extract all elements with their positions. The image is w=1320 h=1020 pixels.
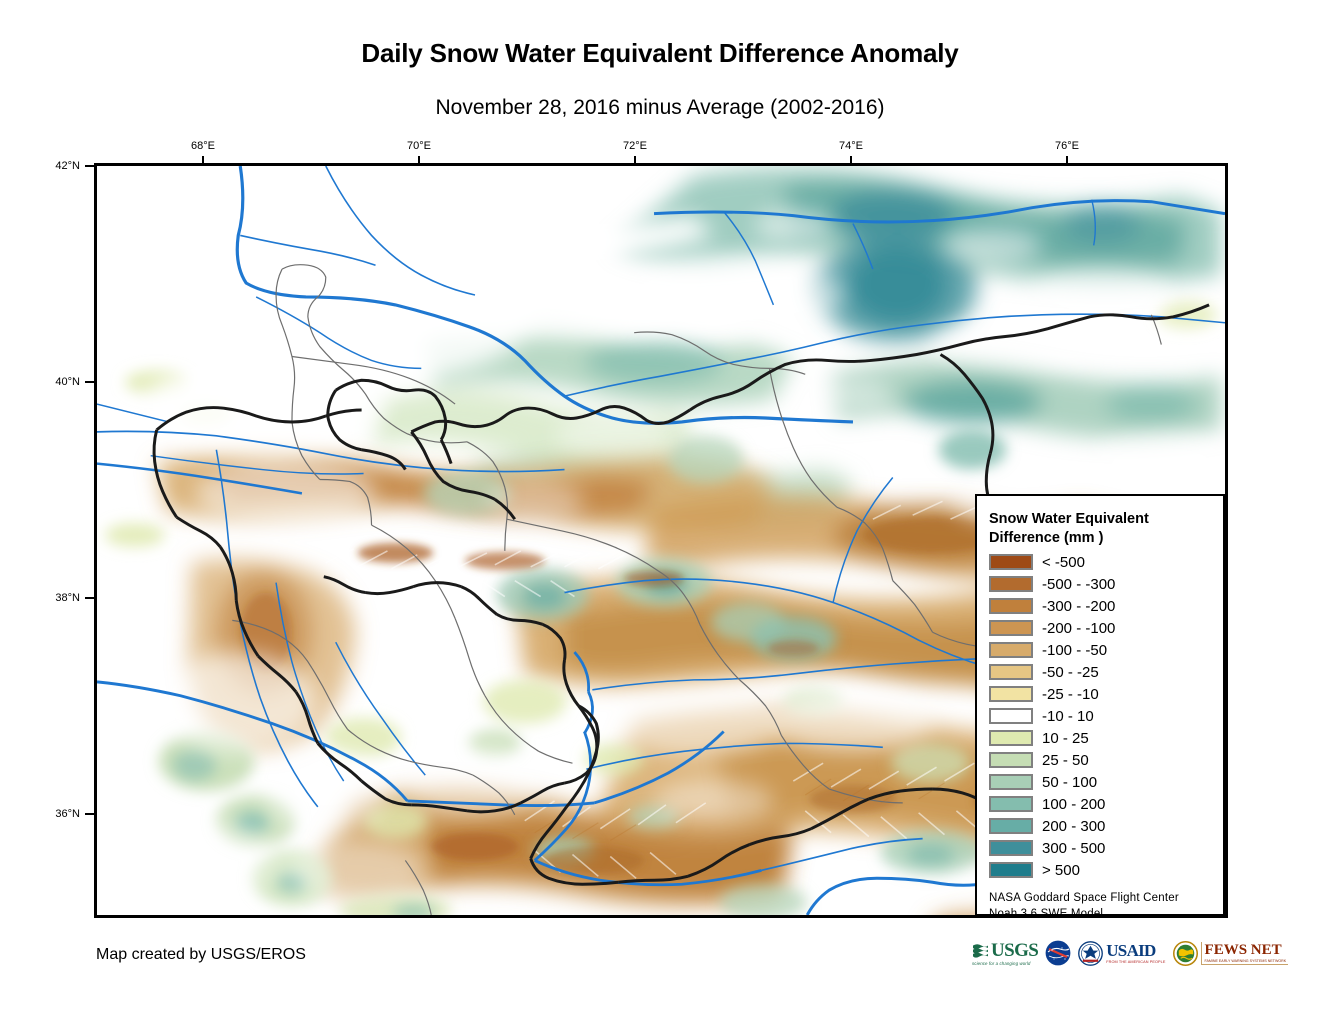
legend-row: 25 - 50	[989, 749, 1223, 771]
lon-label-74: 74°E	[839, 140, 863, 152]
lat-tick-36	[85, 813, 94, 815]
fews-net-logo: FEWS NET FAMINE EARLY WARNING SYSTEMS NE…	[1173, 936, 1289, 970]
legend-swatch	[989, 840, 1033, 856]
usgs-logo: USGS science for a changing world	[972, 936, 1038, 970]
legend-row: -10 - 10	[989, 705, 1223, 727]
usgs-tagline: science for a changing world	[972, 961, 1030, 966]
lat-label-40: 40°N	[28, 376, 80, 388]
usaid-tagline: FROM THE AMERICAN PEOPLE	[1106, 960, 1165, 964]
legend-row: -100 - -50	[989, 639, 1223, 661]
legend-row: -300 - -200	[989, 595, 1223, 617]
legend-swatch	[989, 642, 1033, 658]
legend-swatch	[989, 620, 1033, 636]
usaid-logo: USAID FROM THE AMERICAN PEOPLE	[1078, 936, 1165, 970]
lon-label-76: 76°E	[1055, 140, 1079, 152]
legend-swatch	[989, 576, 1033, 592]
map-credit: Map created by USGS/EROS	[96, 946, 306, 964]
legend-swatch	[989, 686, 1033, 702]
usaid-seal-icon	[1078, 941, 1103, 966]
legend-swatch	[989, 554, 1033, 570]
lon-label-70: 70°E	[407, 140, 431, 152]
legend-row: -200 - -100	[989, 617, 1223, 639]
legend-label: -50 - -25	[1042, 664, 1099, 681]
legend-swatch	[989, 818, 1033, 834]
fews-net-wordmark: FEWS NET	[1205, 943, 1282, 958]
legend-label: 200 - 300	[1042, 818, 1105, 835]
legend-title: Snow Water Equivalent Difference (mm )	[989, 510, 1223, 547]
legend-title-line1: Snow Water Equivalent	[989, 510, 1223, 529]
legend-label: -25 - -10	[1042, 686, 1099, 703]
legend-swatch	[989, 796, 1033, 812]
legend-row: 200 - 300	[989, 815, 1223, 837]
lon-label-68: 68°E	[191, 140, 215, 152]
lat-tick-40	[85, 381, 94, 383]
legend-label: -10 - 10	[1042, 708, 1094, 725]
legend-label: 10 - 25	[1042, 730, 1089, 747]
legend-row: -25 - -10	[989, 683, 1223, 705]
legend-label: 50 - 100	[1042, 774, 1097, 791]
legend-swatch	[989, 774, 1033, 790]
usgs-wordmark: USGS	[991, 941, 1038, 960]
fews-globe-icon	[1173, 941, 1198, 966]
legend-label: 25 - 50	[1042, 752, 1089, 769]
legend-label: 300 - 500	[1042, 840, 1105, 857]
legend-swatch	[989, 664, 1033, 680]
legend-title-line2: Difference (mm )	[989, 529, 1223, 548]
legend-label: 100 - 200	[1042, 796, 1105, 813]
usgs-wave-icon	[972, 943, 989, 958]
legend-row: -500 - -300	[989, 573, 1223, 595]
legend-source: NASA Goddard Space Flight Center Noah 3.…	[989, 890, 1223, 922]
legend-row: 300 - 500	[989, 837, 1223, 859]
logo-strip: USGS science for a changing world USAID …	[972, 934, 1288, 972]
legend-row: -50 - -25	[989, 661, 1223, 683]
legend-swatch	[989, 730, 1033, 746]
page-title: Daily Snow Water Equivalent Difference A…	[0, 38, 1320, 69]
legend-row: 10 - 25	[989, 727, 1223, 749]
legend-swatch	[989, 862, 1033, 878]
legend-row: > 500	[989, 859, 1223, 881]
legend-label: -500 - -300	[1042, 576, 1115, 593]
lat-tick-42	[85, 165, 94, 167]
legend-label: -100 - -50	[1042, 642, 1107, 659]
page-subtitle: November 28, 2016 minus Average (2002-20…	[0, 96, 1320, 120]
legend-row: 100 - 200	[989, 793, 1223, 815]
legend-row: < -500	[989, 551, 1223, 573]
legend-swatch	[989, 752, 1033, 768]
legend-label: -200 - -100	[1042, 620, 1115, 637]
legend-label: > 500	[1042, 862, 1080, 879]
legend-row: 50 - 100	[989, 771, 1223, 793]
lat-label-42: 42°N	[28, 160, 80, 172]
lon-label-72: 72°E	[623, 140, 647, 152]
lat-label-38: 38°N	[28, 592, 80, 604]
lat-tick-38	[85, 597, 94, 599]
legend-source-line1: NASA Goddard Space Flight Center	[989, 890, 1223, 906]
legend-label: < -500	[1042, 554, 1085, 571]
map-legend: Snow Water Equivalent Difference (mm ) <…	[975, 494, 1225, 916]
legend-swatch	[989, 598, 1033, 614]
fews-net-tagline: FAMINE EARLY WARNING SYSTEMS NETWORK	[1205, 959, 1287, 963]
nasa-logo	[1045, 936, 1071, 970]
legend-source-line2: Noah 3.6 SWE Model.	[989, 906, 1223, 922]
legend-label: -300 - -200	[1042, 598, 1115, 615]
usaid-wordmark: USAID	[1106, 942, 1155, 959]
nasa-meatball-icon	[1045, 940, 1071, 966]
lat-label-36: 36°N	[28, 808, 80, 820]
legend-swatch	[989, 708, 1033, 724]
